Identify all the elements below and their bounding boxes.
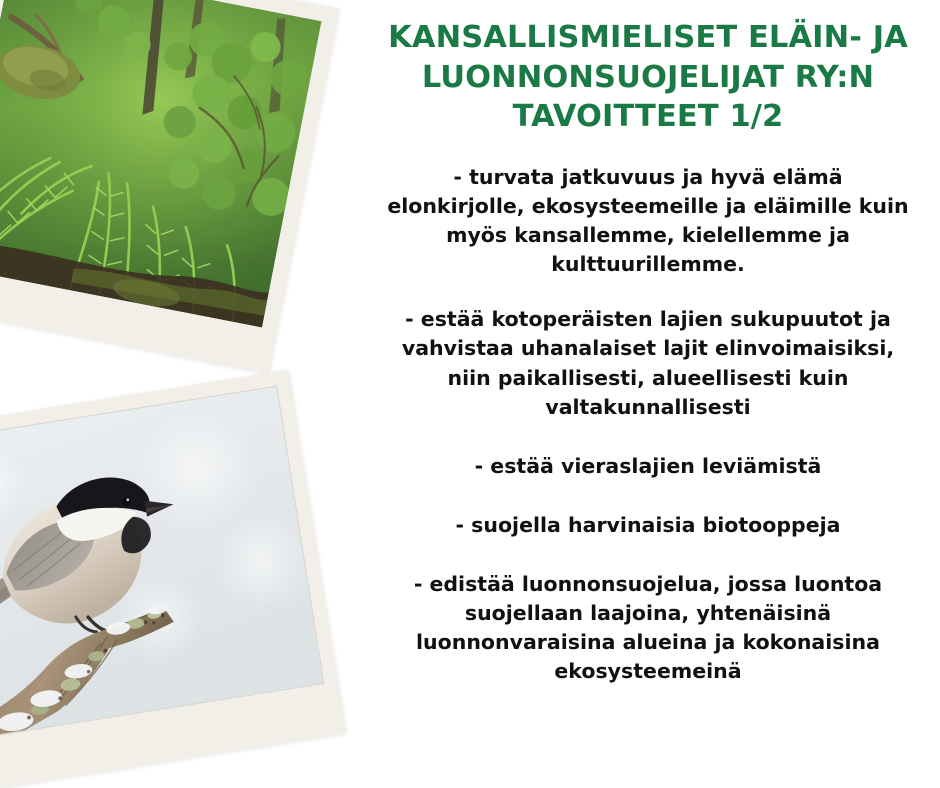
photo-forest bbox=[0, 0, 322, 328]
photo-collage bbox=[0, 0, 400, 788]
page-title-line-1: KANSALLISMIELISET ELÄIN- JA bbox=[388, 20, 908, 55]
goal-item-nature-conservation: - edistää luonnonsuojelua, jossa luontoa… bbox=[378, 570, 918, 686]
willow-tit-illustration bbox=[0, 387, 323, 740]
text-column: KANSALLISMIELISET ELÄIN- JA LUONNONSUOJE… bbox=[378, 0, 918, 788]
goal-item-invasive-species: - estää vieraslajien leviämistä bbox=[378, 452, 918, 481]
page-title-line-2: LUONNONSUOJELIJAT RY:N bbox=[422, 60, 874, 95]
goals-list: - turvata jatkuvuus ja hyvä elämä elonki… bbox=[378, 163, 918, 687]
photo-bird bbox=[0, 386, 324, 741]
photo-frame-forest[interactable] bbox=[0, 0, 340, 374]
goal-item-continuity: - turvata jatkuvuus ja hyvä elämä elonki… bbox=[378, 163, 918, 279]
goal-item-prevent-extinction: - estää kotoperäisten lajien sukupuutot … bbox=[378, 305, 918, 421]
page-title: KANSALLISMIELISET ELÄIN- JA LUONNONSUOJE… bbox=[378, 18, 918, 137]
forest-ferns-illustration bbox=[0, 0, 322, 328]
slide-canvas: KANSALLISMIELISET ELÄIN- JA LUONNONSUOJE… bbox=[0, 0, 940, 788]
page-title-line-3: TAVOITTEET 1/2 bbox=[513, 99, 784, 134]
photo-frame-bird[interactable] bbox=[0, 370, 346, 788]
goal-item-rare-biotopes: - suojella harvinaisia biotooppeja bbox=[378, 511, 918, 540]
